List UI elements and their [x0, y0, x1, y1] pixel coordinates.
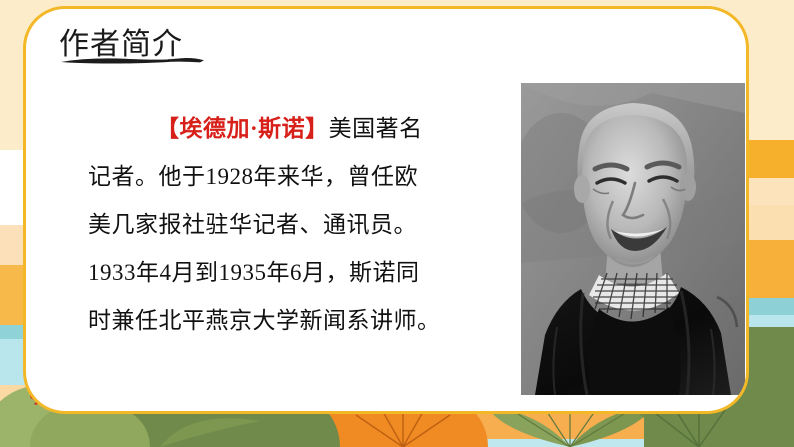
body-line-2: 记者。他于1928年来华，曾任欧	[88, 153, 488, 201]
body-line-5: 时兼任北平燕京大学新闻系讲师。	[88, 297, 488, 345]
brush-stroke-underline-icon	[60, 56, 205, 65]
body-line-3: 美几家报社驻华记者、通讯员。	[88, 201, 488, 249]
content-card: 作者简介 【埃德加·斯诺】美国著名 记者。他于1928年来华，曾任欧 美几家报社…	[23, 6, 749, 414]
body-line-1: 【埃德加·斯诺】美国著名	[88, 105, 488, 153]
body-line-1-rest: 美国著名	[329, 116, 423, 141]
body-text-block: 【埃德加·斯诺】美国著名 记者。他于1928年来华，曾任欧 美几家报社驻华记者、…	[88, 105, 488, 345]
body-line-4: 1933年4月到1935年6月，斯诺同	[88, 249, 488, 297]
portrait-photo-image	[521, 83, 745, 395]
portrait-photo	[521, 83, 745, 395]
slide-root: 作者简介 【埃德加·斯诺】美国著名 记者。他于1928年来华，曾任欧 美几家报社…	[0, 0, 794, 447]
highlight-name: 【埃德加·斯诺】	[156, 116, 329, 141]
